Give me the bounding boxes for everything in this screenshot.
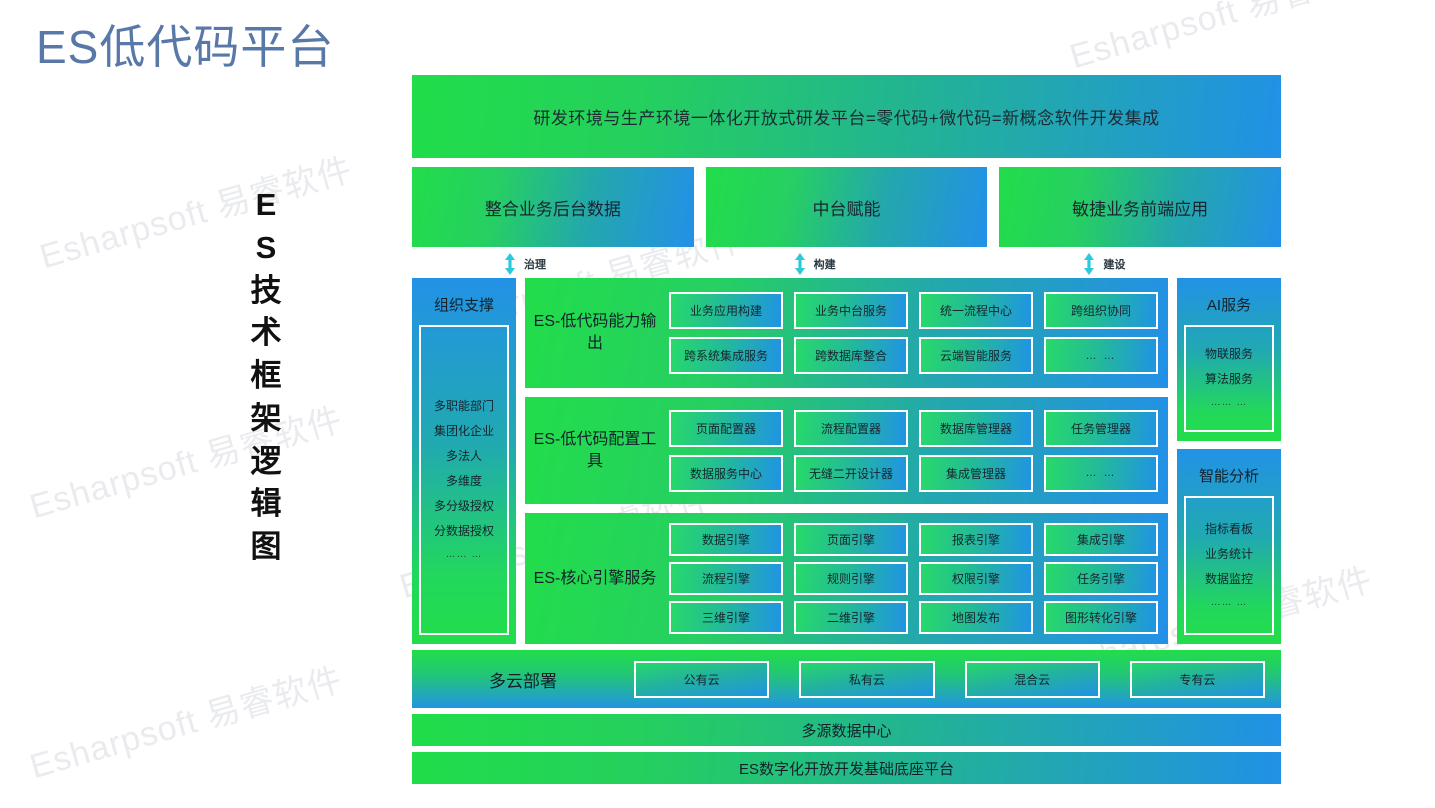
panel-item[interactable]: 集团化企业 <box>434 425 494 437</box>
tier-label: ES-核心引擎服务 <box>531 568 659 590</box>
tier-cell[interactable]: 业务中台服务 <box>794 292 908 329</box>
panel-item-list: 物联服务 算法服务 …… … <box>1184 325 1274 432</box>
bottom-bar-foundation-platform[interactable]: ES数字化开放开发基础底座平台 <box>412 752 1281 784</box>
tier-label: ES-低代码配置工具 <box>531 429 659 472</box>
bottom-bar-data-center[interactable]: 多源数据中心 <box>412 714 1281 746</box>
panel-item[interactable]: 多分级授权 <box>434 500 494 512</box>
panel-item[interactable]: 多维度 <box>446 475 482 487</box>
vertical-title-char: 术 <box>243 312 289 355</box>
tier-cell[interactable]: 页面配置器 <box>669 410 783 447</box>
tier-cell[interactable]: 数据库管理器 <box>919 410 1033 447</box>
panel-item[interactable]: 多职能部门 <box>434 400 494 412</box>
vertical-title-char: S <box>243 227 289 270</box>
pillar-box-midplatform[interactable]: 中台赋能 <box>706 167 988 247</box>
vertical-title-char: 架 <box>243 398 289 441</box>
connector-label: 构建 <box>814 256 836 272</box>
tier-cell-ellipsis[interactable]: … … <box>1044 337 1158 374</box>
panel-item-ellipsis: …… … <box>446 550 483 560</box>
panel-item-ellipsis: …… … <box>1211 598 1248 608</box>
architecture-diagram: 研发环境与生产环境一体化开放式研发平台=零代码+微代码=新概念软件开发集成 整合… <box>412 75 1281 785</box>
cloud-cell-hybrid[interactable]: 混合云 <box>965 661 1100 698</box>
vertical-title-char: 图 <box>243 526 289 569</box>
panel-title: AI服务 <box>1184 286 1274 325</box>
watermark-text: Esharpsoft 易睿软件 <box>23 652 347 788</box>
tier-cell[interactable]: 流程配置器 <box>794 410 908 447</box>
cloud-cell-private[interactable]: 私有云 <box>799 661 934 698</box>
tier-cell[interactable]: 业务应用构建 <box>669 292 783 329</box>
tier-cell[interactable]: 任务管理器 <box>1044 410 1158 447</box>
tier-core-engine-services: ES-核心引擎服务 数据引擎 页面引擎 报表引擎 集成引擎 流程引擎 规则引擎 … <box>525 513 1168 644</box>
connector-label: 治理 <box>524 256 546 272</box>
panel-item[interactable]: 物联服务 <box>1205 348 1253 360</box>
tier-cell[interactable]: 报表引擎 <box>919 523 1033 556</box>
panel-item[interactable]: 指标看板 <box>1205 523 1253 535</box>
body-area: 组织支撑 多职能部门 集团化企业 多法人 多维度 多分级授权 分数据授权 …… … <box>412 278 1281 644</box>
cloud-cell-dedicated[interactable]: 专有云 <box>1130 661 1265 698</box>
panel-item[interactable]: 数据监控 <box>1205 573 1253 585</box>
right-sidebar: AI服务 物联服务 算法服务 …… … 智能分析 指标看板 业务统计 数据监控 … <box>1177 278 1281 644</box>
cloud-cell-public[interactable]: 公有云 <box>634 661 769 698</box>
panel-item-list: 多职能部门 集团化企业 多法人 多维度 多分级授权 分数据授权 …… … <box>419 325 509 635</box>
tier-cell[interactable]: 规则引擎 <box>794 562 908 595</box>
cloud-deployment-row: 多云部署 公有云 私有云 混合云 专有云 <box>412 650 1281 708</box>
panel-item-ellipsis: …… … <box>1211 398 1248 408</box>
panel-item[interactable]: 业务统计 <box>1205 548 1253 560</box>
tier-label: ES-低代码能力输出 <box>531 311 659 354</box>
vertical-title-char: 辑 <box>243 483 289 526</box>
tier-cell[interactable]: 页面引擎 <box>794 523 908 556</box>
tier-cell[interactable]: 统一流程中心 <box>919 292 1033 329</box>
tier-lowcode-config-tools: ES-低代码配置工具 页面配置器 流程配置器 数据库管理器 任务管理器 数据服务… <box>525 397 1168 504</box>
panel-intelligent-analysis[interactable]: 智能分析 指标看板 业务统计 数据监控 …… … <box>1177 449 1281 644</box>
panel-item-list: 指标看板 业务统计 数据监控 …… … <box>1184 496 1274 635</box>
watermark-text: Esharpsoft 易睿软件 <box>33 142 357 278</box>
tier-cell[interactable]: 权限引擎 <box>919 562 1033 595</box>
page-title: ES低代码平台 <box>36 22 334 73</box>
tier-cell[interactable]: 流程引擎 <box>669 562 783 595</box>
cloud-cell-group: 公有云 私有云 混合云 专有云 <box>634 661 1265 698</box>
tier-cell-grid: 页面配置器 流程配置器 数据库管理器 任务管理器 数据服务中心 无缝二开设计器 … <box>669 410 1158 492</box>
tier-lowcode-capability: ES-低代码能力输出 业务应用构建 业务中台服务 统一流程中心 跨组织协同 跨系… <box>525 278 1168 388</box>
connector-construction: 建设 <box>991 251 1281 277</box>
left-sidebar: 组织支撑 多职能部门 集团化企业 多法人 多维度 多分级授权 分数据授权 …… … <box>412 278 516 644</box>
pillar-box-frontend[interactable]: 敏捷业务前端应用 <box>999 167 1281 247</box>
panel-title: 组织支撑 <box>419 286 509 325</box>
connector-row: 治理 构建 建设 <box>412 251 1281 277</box>
vertical-title: E S 技 术 框 架 逻 辑 图 <box>243 184 289 569</box>
top-banner: 研发环境与生产环境一体化开放式研发平台=零代码+微代码=新概念软件开发集成 <box>412 75 1281 158</box>
double-arrow-vertical-icon <box>1083 253 1095 275</box>
vertical-title-char: E <box>243 184 289 227</box>
tier-stack: ES-低代码能力输出 业务应用构建 业务中台服务 统一流程中心 跨组织协同 跨系… <box>525 278 1168 644</box>
panel-ai-services[interactable]: AI服务 物联服务 算法服务 …… … <box>1177 278 1281 441</box>
tier-cell[interactable]: 数据引擎 <box>669 523 783 556</box>
watermark-text: Esharpsoft 易睿软件 <box>23 392 347 528</box>
tier-cell[interactable]: 集成管理器 <box>919 455 1033 492</box>
pillar-row: 整合业务后台数据 中台赋能 敏捷业务前端应用 <box>412 167 1281 247</box>
panel-item[interactable]: 多法人 <box>446 450 482 462</box>
tier-cell[interactable]: 任务引擎 <box>1044 562 1158 595</box>
tier-cell-ellipsis[interactable]: … … <box>1044 455 1158 492</box>
tier-cell[interactable]: 跨组织协同 <box>1044 292 1158 329</box>
tier-cell-grid: 业务应用构建 业务中台服务 统一流程中心 跨组织协同 跨系统集成服务 跨数据库整… <box>669 292 1158 374</box>
panel-item[interactable]: 算法服务 <box>1205 373 1253 385</box>
vertical-title-char: 框 <box>243 355 289 398</box>
double-arrow-vertical-icon <box>504 253 516 275</box>
tier-cell[interactable]: 无缝二开设计器 <box>794 455 908 492</box>
connector-label: 建设 <box>1103 256 1125 272</box>
slide-root: Esharpsoft 易睿软件 Esharpsoft 易睿软件 Esharpso… <box>0 0 1435 808</box>
tier-cell-grid: 数据引擎 页面引擎 报表引擎 集成引擎 流程引擎 规则引擎 权限引擎 任务引擎 … <box>669 523 1158 634</box>
pillar-box-governance[interactable]: 整合业务后台数据 <box>412 167 694 247</box>
panel-title: 智能分析 <box>1184 457 1274 496</box>
watermark-text: Esharpsoft 易睿软件 <box>1063 0 1387 78</box>
connector-build: 构建 <box>702 251 992 277</box>
tier-cell[interactable]: 图形转化引擎 <box>1044 601 1158 634</box>
vertical-title-char: 技 <box>243 270 289 313</box>
tier-cell[interactable]: 集成引擎 <box>1044 523 1158 556</box>
tier-cell[interactable]: 地图发布 <box>919 601 1033 634</box>
vertical-title-char: 逻 <box>243 441 289 484</box>
panel-organization-support[interactable]: 组织支撑 多职能部门 集团化企业 多法人 多维度 多分级授权 分数据授权 …… … <box>412 278 516 644</box>
connector-governance: 治理 <box>412 251 702 277</box>
double-arrow-vertical-icon <box>794 253 806 275</box>
panel-item[interactable]: 分数据授权 <box>434 525 494 537</box>
tier-cell[interactable]: 二维引擎 <box>794 601 908 634</box>
tier-cell[interactable]: 数据服务中心 <box>669 455 783 492</box>
tier-cell[interactable]: 三维引擎 <box>669 601 783 634</box>
tier-cell[interactable]: 跨数据库整合 <box>794 337 908 374</box>
tier-cell[interactable]: 跨系统集成服务 <box>669 337 783 374</box>
cloud-row-label: 多云部署 <box>412 667 634 692</box>
tier-cell[interactable]: 云端智能服务 <box>919 337 1033 374</box>
